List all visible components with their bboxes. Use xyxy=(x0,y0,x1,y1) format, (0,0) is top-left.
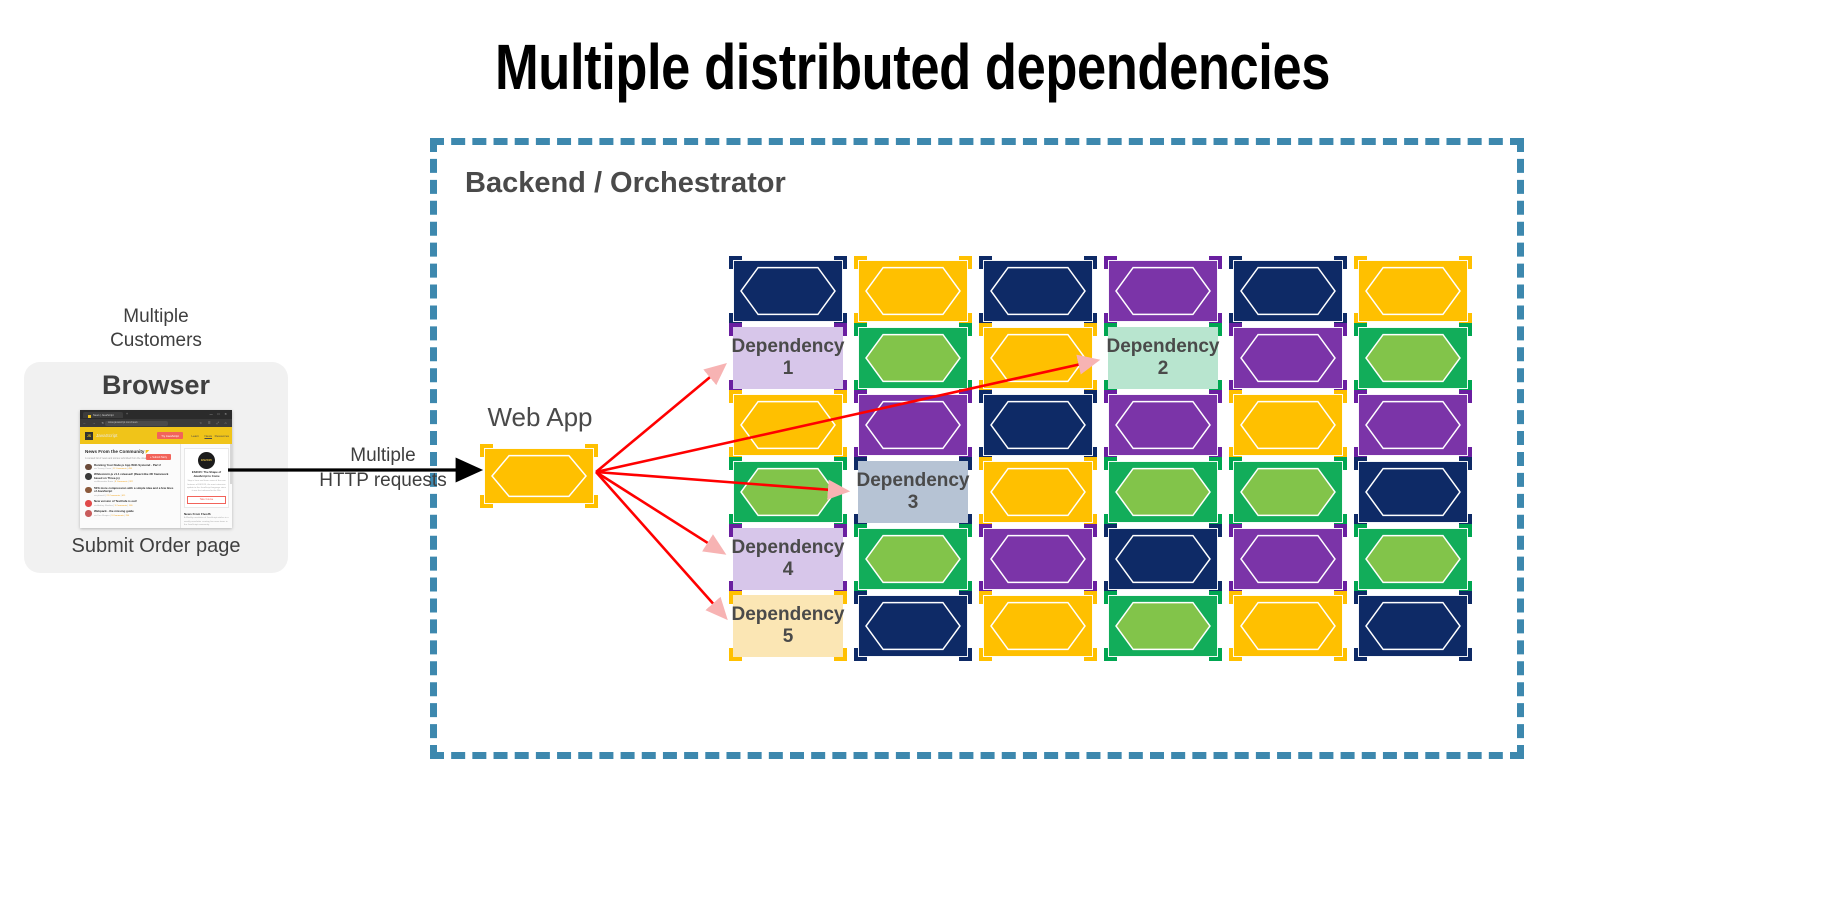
tile-corner-bracket xyxy=(1229,256,1242,269)
tile-face xyxy=(1108,595,1218,657)
article-comments: 3 Comments xyxy=(115,505,127,507)
service-tile[interactable] xyxy=(858,528,968,590)
service-tile[interactable] xyxy=(1108,595,1218,657)
article-votes: 496 xyxy=(128,468,132,470)
tile-corner-bracket xyxy=(959,256,972,269)
tile-corner-bracket xyxy=(959,524,972,537)
tile-face xyxy=(1233,461,1343,523)
tile-face xyxy=(733,260,843,322)
list-item[interactable]: Running Your Node.js App With Systemd - … xyxy=(85,464,176,471)
tile-corner-bracket xyxy=(979,323,992,336)
http-line-2: HTTP requests xyxy=(288,469,478,494)
tile-face xyxy=(858,595,968,657)
article-meta: via Andrey Sharkov | 3 Comments | 180 xyxy=(94,505,137,507)
course-card-body: Stop is here and learn some of the new f… xyxy=(187,480,226,493)
article-meta: via Tierney Coren | 12 Comments | 496 xyxy=(94,468,161,470)
dependency-tile-2[interactable]: Dependency2 xyxy=(1108,327,1218,389)
service-tile[interactable] xyxy=(1108,461,1218,523)
tile-corner-bracket xyxy=(1104,591,1117,604)
tile-corner-bracket xyxy=(1104,457,1117,470)
toolbar-icons[interactable]: ☆ ☰ ⤢ ⌂ xyxy=(199,421,229,425)
submit-order-caption: Submit Order page xyxy=(14,535,298,558)
dependency-label-number: 5 xyxy=(783,626,794,648)
dependency-label: Dependency2 xyxy=(1108,327,1218,389)
service-tile[interactable] xyxy=(1358,528,1468,590)
tile-corner-bracket xyxy=(959,648,972,661)
article-author: via Tierney Coren xyxy=(94,468,111,470)
tile-corner-bracket xyxy=(585,495,598,508)
tile-corner-bracket xyxy=(979,648,992,661)
tile-face xyxy=(983,461,1093,523)
tile-corner-bracket xyxy=(854,323,867,336)
submit-story-button[interactable]: + Submit Story xyxy=(146,454,171,460)
tile-corner-bracket xyxy=(1334,457,1347,470)
tile-face xyxy=(1233,327,1343,389)
dependency-tile-4[interactable]: Dependency4 xyxy=(733,528,843,590)
tile-corner-bracket xyxy=(480,495,493,508)
article-comments: 12 Comments xyxy=(113,468,127,470)
tile-corner-bracket xyxy=(1229,323,1242,336)
tile-corner-bracket xyxy=(1354,390,1367,403)
tile-corner-bracket xyxy=(834,390,847,403)
avatar xyxy=(85,473,92,480)
es2015-badge-icon: ES2015 xyxy=(198,452,215,469)
article-author: via Dan Shapiro xyxy=(94,515,110,517)
article-title: New version of TestCafe is out! xyxy=(94,500,137,504)
service-tile[interactable] xyxy=(858,260,968,322)
service-tile[interactable] xyxy=(1108,260,1218,322)
webapp-tile[interactable] xyxy=(484,448,594,504)
article-comments: 9 Comments xyxy=(111,515,123,517)
sidebar-section-title: News From FiveJS xyxy=(184,512,229,516)
tile-corner-bracket xyxy=(1229,648,1242,661)
tile-corner-bracket xyxy=(1354,648,1367,661)
new-tab-icon[interactable]: + xyxy=(126,412,128,416)
browser-title: Browser xyxy=(24,370,288,401)
tile-corner-bracket xyxy=(1334,256,1347,269)
tile-corner-bracket xyxy=(729,457,742,470)
js-logo-icon: JS xyxy=(85,432,93,440)
tile-face xyxy=(1108,528,1218,590)
tile-corner-bracket xyxy=(979,524,992,537)
service-tile[interactable] xyxy=(858,394,968,456)
service-tile[interactable] xyxy=(1108,394,1218,456)
tile-corner-bracket xyxy=(1229,591,1242,604)
tile-corner-bracket xyxy=(1084,648,1097,661)
service-tile[interactable] xyxy=(983,260,1093,322)
dependency-label-text: Dependency xyxy=(1107,336,1220,358)
service-tile[interactable] xyxy=(983,461,1093,523)
tile-face xyxy=(1108,394,1218,456)
service-tile[interactable] xyxy=(1233,260,1343,322)
tile-face xyxy=(1233,595,1343,657)
tile-corner-bracket xyxy=(1209,256,1222,269)
favicon-icon xyxy=(88,415,91,418)
tile-face xyxy=(1108,461,1218,523)
service-tile[interactable] xyxy=(1233,528,1343,590)
article-author: via Andrey Sharkov xyxy=(94,505,113,507)
customers-line-1: Multiple xyxy=(24,305,288,329)
article-author: via Alexander Buzin xyxy=(94,481,113,483)
sidebar-section-body: A Weekly newsletter of JavaScript articl… xyxy=(184,517,229,527)
avatar xyxy=(85,487,92,494)
window-controls[interactable]: — □ ✕ xyxy=(209,412,229,416)
http-line-1: Multiple xyxy=(288,444,478,469)
service-tile[interactable] xyxy=(1233,394,1343,456)
tile-face xyxy=(983,528,1093,590)
site-brand: JavaScript xyxy=(96,433,117,438)
tile-corner-bracket xyxy=(834,457,847,470)
tile-corner-bracket xyxy=(1209,524,1222,537)
tile-face xyxy=(1108,260,1218,322)
service-tile[interactable] xyxy=(1358,327,1468,389)
nav-link-resources[interactable]: Resources xyxy=(215,434,229,438)
dependency-label-text: Dependency xyxy=(732,537,845,559)
tile-corner-bracket xyxy=(1354,524,1367,537)
service-tile[interactable] xyxy=(983,528,1093,590)
tile-face xyxy=(1358,595,1468,657)
list-item[interactable]: Whitestorm.js v1.1 released! (React-like… xyxy=(85,473,176,483)
webapp-label: Web App xyxy=(455,402,625,433)
avatar xyxy=(85,510,92,517)
multiple-customers-caption: Multiple Customers xyxy=(24,305,288,353)
tile-corner-bracket xyxy=(1209,648,1222,661)
tile-corner-bracket xyxy=(1104,524,1117,537)
dependency-label-number: 4 xyxy=(783,559,794,581)
dependency-label: Dependency4 xyxy=(733,528,843,590)
article-meta: via pfraze0 | 21 Comments | 411 xyxy=(94,495,176,497)
tile-face xyxy=(1233,260,1343,322)
nav-back-forward-reload-icons[interactable]: ← → ↻ xyxy=(83,421,107,425)
dependency-label-text: Dependency xyxy=(732,604,845,626)
tile-corner-bracket xyxy=(1084,457,1097,470)
dependency-label-text: Dependency xyxy=(732,336,845,358)
service-tile[interactable] xyxy=(858,595,968,657)
dependency-label: Dependency5 xyxy=(733,595,843,657)
tile-corner-bracket xyxy=(979,457,992,470)
article-votes: 411 xyxy=(122,495,126,497)
tile-corner-bracket xyxy=(1354,323,1367,336)
tile-face xyxy=(858,327,968,389)
tile-corner-bracket xyxy=(979,390,992,403)
http-requests-caption: Multiple HTTP requests xyxy=(288,444,478,493)
take-course-button[interactable]: Take Course xyxy=(187,496,226,504)
dependency-tile-3[interactable]: Dependency3 xyxy=(858,461,968,523)
service-tile[interactable] xyxy=(733,260,843,322)
tile-corner-bracket xyxy=(959,591,972,604)
tile-corner-bracket xyxy=(1084,591,1097,604)
tile-corner-bracket xyxy=(1459,648,1472,661)
tile-corner-bracket xyxy=(1084,390,1097,403)
dependency-label: Dependency1 xyxy=(733,327,843,389)
tile-corner-bracket xyxy=(729,390,742,403)
dependency-label-number: 2 xyxy=(1158,358,1169,380)
tile-face xyxy=(1358,394,1468,456)
dependency-label-number: 1 xyxy=(783,358,794,380)
service-tile[interactable] xyxy=(1358,461,1468,523)
service-tile[interactable] xyxy=(983,595,1093,657)
tile-corner-bracket xyxy=(1104,256,1117,269)
tile-face xyxy=(858,528,968,590)
tile-corner-bracket xyxy=(1459,457,1472,470)
service-tile[interactable] xyxy=(983,394,1093,456)
service-tile[interactable] xyxy=(1233,327,1343,389)
tile-corner-bracket xyxy=(1459,323,1472,336)
avatar xyxy=(85,500,92,507)
headline-text: News From the Community xyxy=(85,449,144,454)
tile-face xyxy=(983,394,1093,456)
site-header: JS JavaScript Try JavaScript Learn News … xyxy=(80,427,232,444)
page-title: Multiple distributed dependencies xyxy=(164,30,1661,104)
tile-corner-bracket xyxy=(1104,648,1117,661)
service-tile[interactable] xyxy=(983,327,1093,389)
browser-url-bar: ← → ↻ www.javascript.com/news ☆ ☰ ⤢ ⌂ xyxy=(80,419,232,427)
tile-corner-bracket xyxy=(854,256,867,269)
brand-name: JavaScript xyxy=(96,433,117,438)
tile-face xyxy=(983,327,1093,389)
tile-corner-bracket xyxy=(1459,390,1472,403)
tile-corner-bracket xyxy=(1459,591,1472,604)
backend-label: Backend / Orchestrator xyxy=(465,167,786,200)
tile-corner-bracket xyxy=(854,591,867,604)
tile-corner-bracket xyxy=(1229,457,1242,470)
tile-corner-bracket xyxy=(854,524,867,537)
tile-corner-bracket xyxy=(1334,524,1347,537)
article-comments: 21 Comments xyxy=(107,495,121,497)
tile-corner-bracket xyxy=(1334,591,1347,604)
article-title: Webpack - the missing guide xyxy=(94,510,134,514)
service-tile[interactable] xyxy=(1358,595,1468,657)
dependency-label-text: Dependency xyxy=(857,470,970,492)
tile-corner-bracket xyxy=(1334,648,1347,661)
browser-screenshot: News | JavaScript + — □ ✕ ← → ↻ www.java… xyxy=(80,410,232,528)
tile-corner-bracket xyxy=(1334,323,1347,336)
scrollbar[interactable] xyxy=(230,444,232,484)
tile-corner-bracket xyxy=(979,256,992,269)
list-item[interactable]: New version of TestCafe is out! via Andr… xyxy=(85,500,176,507)
tile-face xyxy=(1358,260,1468,322)
tile-face xyxy=(1233,528,1343,590)
avatar xyxy=(85,464,92,471)
tile-corner-bracket xyxy=(834,256,847,269)
nav-link-learn[interactable]: Learn xyxy=(191,434,199,438)
tile-corner-bracket xyxy=(1104,390,1117,403)
tile-corner-bracket xyxy=(1459,524,1472,537)
tile-face xyxy=(858,394,968,456)
tile-corner-bracket xyxy=(959,390,972,403)
article-title: Running Your Node.js App With Systemd - … xyxy=(94,464,161,468)
tile-corner-bracket xyxy=(729,256,742,269)
try-javascript-button[interactable]: Try JavaScript xyxy=(157,432,183,439)
tile-corner-bracket xyxy=(1459,256,1472,269)
tile-corner-bracket xyxy=(480,444,493,457)
article-comments: 8 Comments xyxy=(115,481,127,483)
service-tile[interactable] xyxy=(1358,260,1468,322)
tile-face xyxy=(1358,327,1468,389)
service-tile[interactable] xyxy=(733,461,843,523)
sidebar-column: ES2015 ES2015: The Shape of JavaScript t… xyxy=(180,444,232,528)
service-tile[interactable] xyxy=(1108,528,1218,590)
nav-link-news[interactable]: News xyxy=(204,434,212,438)
dependency-label-number: 3 xyxy=(908,492,919,514)
article-author: via pfraze0 xyxy=(94,495,105,497)
tile-corner-bracket xyxy=(1229,390,1242,403)
tile-corner-bracket xyxy=(1354,457,1367,470)
tile-corner-bracket xyxy=(1209,591,1222,604)
tile-corner-bracket xyxy=(585,444,598,457)
customers-line-2: Customers xyxy=(24,329,288,353)
tile-corner-bracket xyxy=(1334,390,1347,403)
article-votes: 322 xyxy=(129,481,133,483)
tile-face xyxy=(733,461,843,523)
list-item[interactable]: Webpack - the missing guide via Dan Shap… xyxy=(85,510,176,517)
tile-corner-bracket xyxy=(1229,524,1242,537)
tile-face xyxy=(484,448,594,504)
dependency-label: Dependency3 xyxy=(858,461,968,523)
tile-corner-bracket xyxy=(1084,323,1097,336)
tile-corner-bracket xyxy=(1354,256,1367,269)
url-input[interactable]: www.javascript.com/news xyxy=(105,421,168,426)
service-tile[interactable] xyxy=(733,394,843,456)
tile-corner-bracket xyxy=(1209,390,1222,403)
tile-corner-bracket xyxy=(1209,457,1222,470)
tab-title: News | JavaScript xyxy=(93,414,114,417)
article-votes: 254 xyxy=(126,515,130,517)
tile-corner-bracket xyxy=(979,591,992,604)
dependency-tile-1[interactable]: Dependency1 xyxy=(733,327,843,389)
dependency-tile-5[interactable]: Dependency5 xyxy=(733,595,843,657)
article-title: Whitestorm.js v1.1 released! (React-like… xyxy=(94,473,176,480)
service-tile[interactable] xyxy=(1233,461,1343,523)
service-tile[interactable] xyxy=(1358,394,1468,456)
tile-corner-bracket xyxy=(1354,591,1367,604)
service-tile[interactable] xyxy=(1233,595,1343,657)
service-tile[interactable] xyxy=(858,327,968,389)
tile-corner-bracket xyxy=(1084,524,1097,537)
course-card[interactable]: ES2015 ES2015: The Shape of JavaScript t… xyxy=(184,448,229,508)
tile-face xyxy=(858,260,968,322)
tile-face xyxy=(1358,528,1468,590)
list-item[interactable]: 50% more compression with a simple idea … xyxy=(85,487,176,497)
article-meta: via Dan Shapiro | 9 Comments | 254 xyxy=(94,515,134,517)
tile-face xyxy=(1233,394,1343,456)
article-meta: via Alexander Buzin | 8 Comments | 322 xyxy=(94,481,176,483)
tile-corner-bracket xyxy=(854,648,867,661)
tile-face xyxy=(983,260,1093,322)
tile-corner-bracket xyxy=(854,390,867,403)
browser-chrome-bar: News | JavaScript + — □ ✕ xyxy=(80,410,232,419)
browser-tab[interactable]: News | JavaScript xyxy=(83,412,123,418)
tile-corner-bracket xyxy=(1084,256,1097,269)
tile-face xyxy=(983,595,1093,657)
tile-face xyxy=(733,394,843,456)
article-title: 50% more compression with a simple idea … xyxy=(94,487,176,494)
tile-face xyxy=(1358,461,1468,523)
article-votes: 180 xyxy=(129,505,133,507)
course-card-title: ES2015: The Shape of JavaScript to Come xyxy=(187,471,226,478)
tile-corner-bracket xyxy=(959,323,972,336)
